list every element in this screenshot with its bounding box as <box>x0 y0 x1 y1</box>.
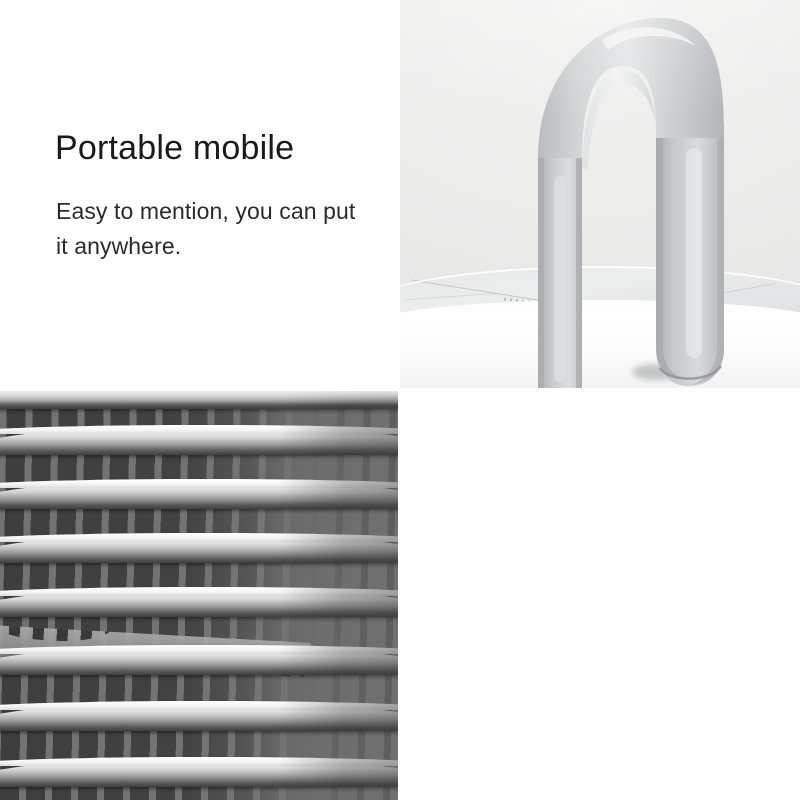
product-feature-collage: Portable mobile Easy to mention, you can… <box>0 0 800 800</box>
louver-slat <box>0 533 398 563</box>
fan-grille-photo <box>0 391 398 800</box>
carry-handle-icon <box>510 8 740 388</box>
panel-leafless-tuyere: Leafless tuyere design Anti-pinch, safe … <box>400 391 800 800</box>
louver-slat <box>0 645 398 675</box>
portable-mobile-title: Portable mobile <box>55 128 294 168</box>
louver-slat <box>0 425 398 455</box>
louver-slat <box>0 587 398 617</box>
panel-handle-photo <box>400 0 800 388</box>
portable-mobile-subtitle: Easy to mention, you can put it anywhere… <box>56 194 356 264</box>
louver-slat <box>0 757 398 787</box>
panel-portable-mobile: Portable mobile Easy to mention, you can… <box>0 0 398 390</box>
panel-grille-photo <box>0 391 398 800</box>
louver-slat <box>0 391 398 409</box>
fan-handle-photo <box>400 0 800 388</box>
carry-handle <box>510 8 740 388</box>
louver-slat <box>0 701 398 731</box>
louver-slat <box>0 479 398 509</box>
